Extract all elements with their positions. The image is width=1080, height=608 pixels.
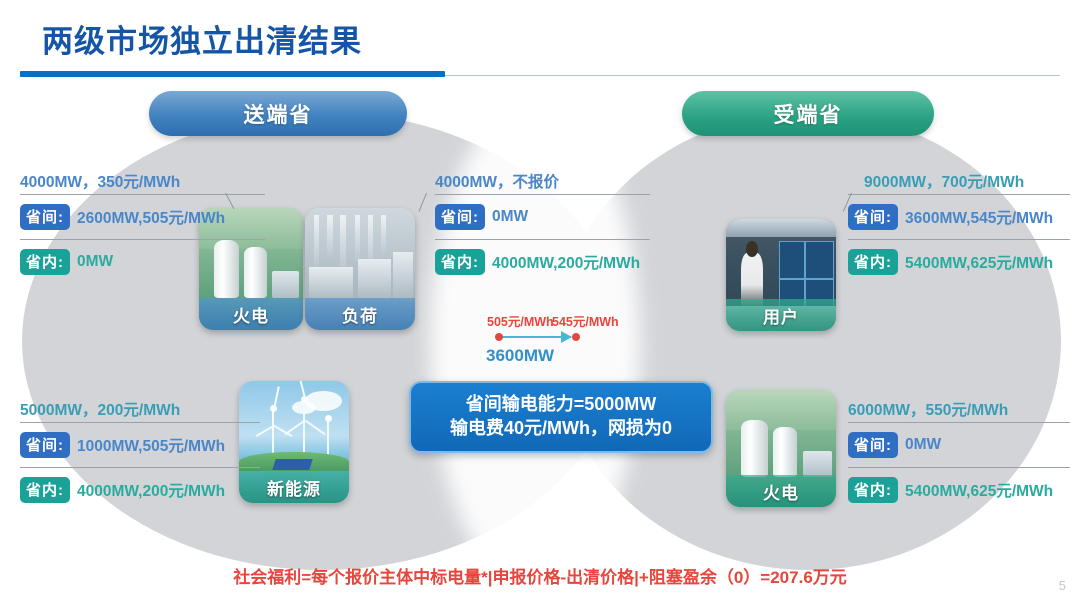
data-group-receiving-thermal: 6000MW，550元/MWh 省间: 0MW 省内: 5400MW,625元/… xyxy=(848,398,1070,503)
tile-caption: 火电 xyxy=(199,298,303,330)
infobox-line-2: 输电费40元/MWh，网损为0 xyxy=(421,416,701,440)
inter-province-badge: 省间: xyxy=(20,204,70,230)
intra-province-row: 省内: 5400MW,625元/MWh xyxy=(848,477,1070,503)
slide-root: 两级市场独立出清结果 送端省 受端省 火电 负荷 xyxy=(0,0,1080,608)
transfer-arrow-head xyxy=(561,331,572,343)
inter-province-badge: 省间: xyxy=(20,432,70,458)
receiving-province-label: 受端省 xyxy=(774,99,843,129)
transfer-flow-amount: 3600MW xyxy=(486,346,554,366)
receiving-province-pill[interactable]: 受端省 xyxy=(682,91,934,136)
divider xyxy=(848,194,1070,195)
divider xyxy=(848,239,1070,240)
offer-value: 5000MW，200元/MWh xyxy=(20,398,260,420)
intra-province-value: 4000MW,200元/MWh xyxy=(77,479,225,501)
tile-caption: 用户 xyxy=(726,299,836,331)
divider xyxy=(20,422,260,423)
inter-province-badge: 省间: xyxy=(848,204,898,230)
sending-province-label: 送端省 xyxy=(244,99,313,129)
tile-caption: 负荷 xyxy=(305,298,415,330)
social-welfare-formula: 社会福利=每个报价主体中标电量*|申报价格-出清价格|+阻塞盈余（0）=207.… xyxy=(0,563,1080,588)
inter-province-row: 省间: 2600MW,505元/MWh xyxy=(20,204,265,230)
offer-value: 6000MW，550元/MWh xyxy=(848,398,1070,420)
inter-province-badge: 省间: xyxy=(435,204,485,230)
inter-province-row: 省间: 0MW xyxy=(848,432,1070,458)
data-group-receiving-user: 9000MW，700元/MWh 省间: 3600MW,545元/MWh 省内: … xyxy=(848,170,1070,275)
data-group-sending-thermal: 4000MW，350元/MWh 省间: 2600MW,505元/MWh 省内: … xyxy=(20,170,265,275)
intra-province-row: 省内: 4000MW,200元/MWh xyxy=(20,477,260,503)
inter-province-badge: 省间: xyxy=(848,432,898,458)
divider xyxy=(435,239,650,240)
transfer-capacity-infobox: 省间输电能力=5000MW 输电费40元/MWh，网损为0 xyxy=(409,381,713,453)
intra-province-value: 5400MW,625元/MWh xyxy=(905,251,1053,273)
offer-value: 4000MW，350元/MWh xyxy=(20,170,265,192)
inter-province-value: 3600MW,545元/MWh xyxy=(905,206,1053,228)
offer-value: 9000MW，700元/MWh xyxy=(864,170,1070,192)
tile-user-receiving[interactable]: 用户 xyxy=(726,219,836,331)
page-title: 两级市场独立出清结果 xyxy=(42,16,362,61)
inter-province-row: 省间: 0MW xyxy=(435,204,650,230)
inter-province-row: 省间: 1000MW,505元/MWh xyxy=(20,432,260,458)
offer-value: 4000MW，不报价 xyxy=(435,170,650,192)
inter-province-value: 2600MW,505元/MWh xyxy=(77,206,225,228)
tile-thermal-receiving[interactable]: 火电 xyxy=(726,390,836,507)
intra-province-badge: 省内: xyxy=(20,249,70,275)
intra-province-row: 省内: 4000MW,200元/MWh xyxy=(435,249,650,275)
divider xyxy=(20,467,260,468)
intra-province-value: 0MW xyxy=(77,253,113,271)
intra-province-badge: 省内: xyxy=(848,477,898,503)
transfer-target-dot xyxy=(572,333,580,341)
title-rule-thick xyxy=(20,71,445,77)
divider xyxy=(848,422,1070,423)
divider xyxy=(848,467,1070,468)
intra-province-value: 5400MW,625元/MWh xyxy=(905,479,1053,501)
sending-province-pill[interactable]: 送端省 xyxy=(149,91,407,136)
intra-province-row: 省内: 5400MW,625元/MWh xyxy=(848,249,1070,275)
infobox-line-1: 省间输电能力=5000MW xyxy=(421,392,701,416)
inter-province-value: 1000MW,505元/MWh xyxy=(77,434,225,456)
intra-province-badge: 省内: xyxy=(848,249,898,275)
divider xyxy=(20,239,265,240)
intra-province-value: 4000MW,200元/MWh xyxy=(492,251,640,273)
intra-province-badge: 省内: xyxy=(435,249,485,275)
transfer-price-right: 545元/MWh xyxy=(552,311,619,330)
inter-province-row: 省间: 3600MW,545元/MWh xyxy=(848,204,1070,230)
data-group-sending-load: 4000MW，不报价 省间: 0MW 省内: 4000MW,200元/MWh xyxy=(435,170,650,275)
tile-caption: 火电 xyxy=(726,475,836,507)
inter-province-value: 0MW xyxy=(492,208,528,226)
tile-load-sending[interactable]: 负荷 xyxy=(305,208,415,330)
intra-province-badge: 省内: xyxy=(20,477,70,503)
transfer-origin-dot xyxy=(495,333,503,341)
page-number: 5 xyxy=(1059,578,1066,593)
divider xyxy=(20,194,265,195)
intra-province-row: 省内: 0MW xyxy=(20,249,265,275)
divider xyxy=(435,194,650,195)
transfer-price-left: 505元/MWh xyxy=(487,311,554,330)
inter-province-value: 0MW xyxy=(905,436,941,454)
data-group-sending-new-energy: 5000MW，200元/MWh 省间: 1000MW,505元/MWh 省内: … xyxy=(20,398,260,503)
